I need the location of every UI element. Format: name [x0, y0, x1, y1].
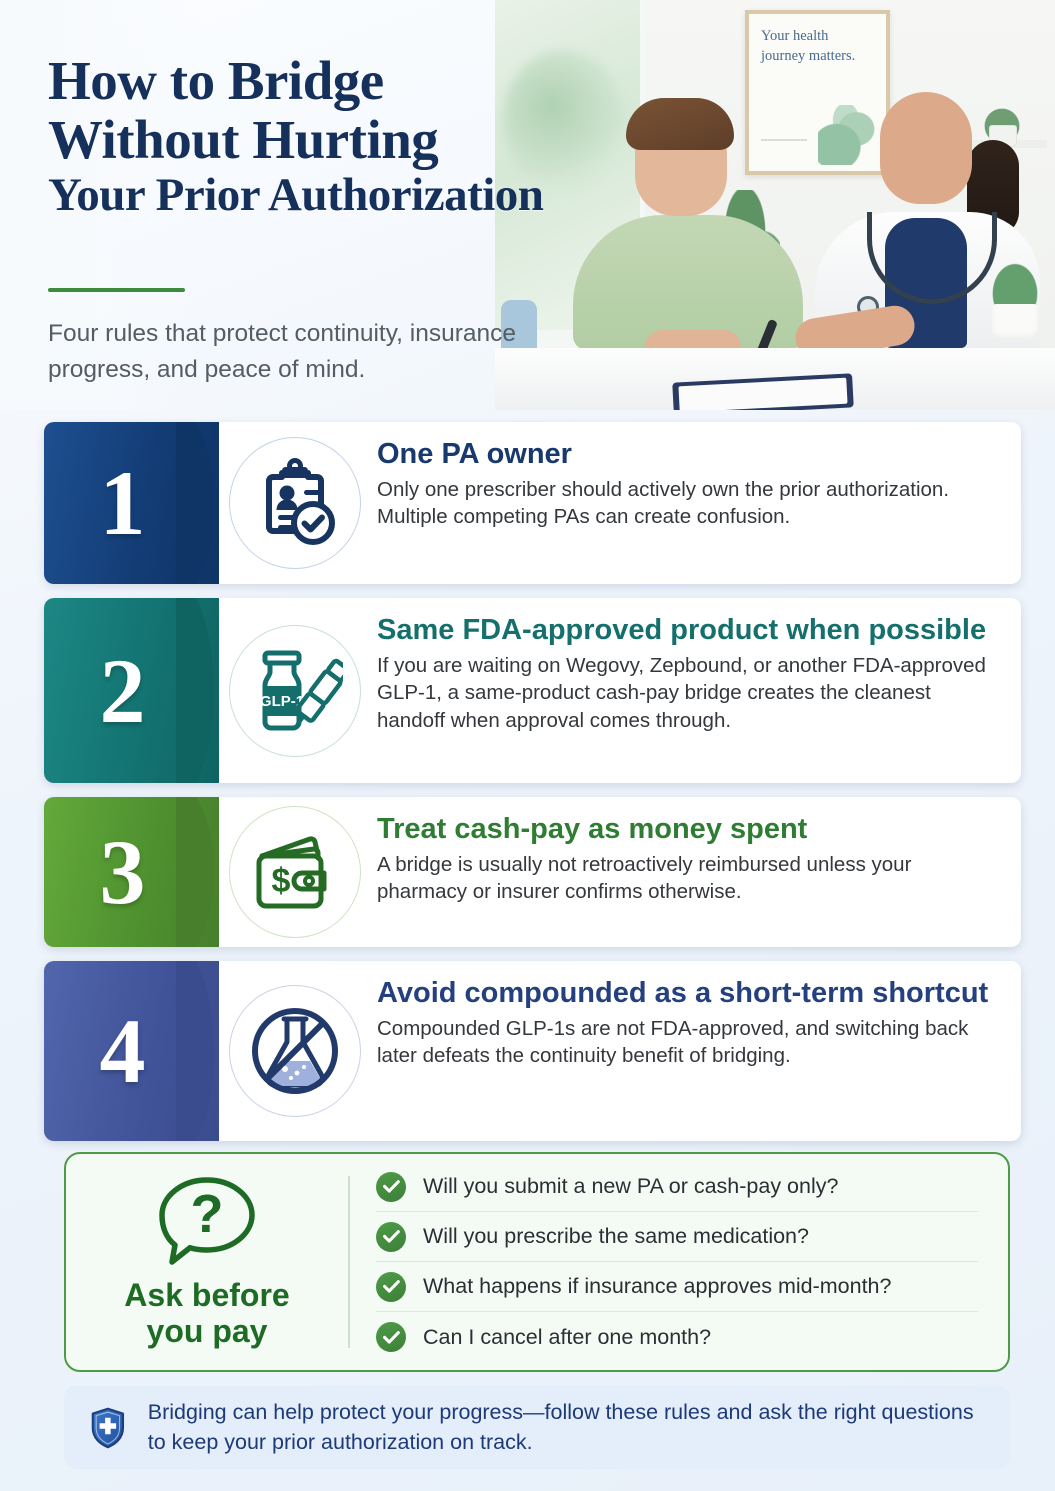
rule-icon-wrap-4 [219, 961, 371, 1141]
title-line-2: Without Hurting [48, 109, 438, 170]
check-circle-icon [376, 1322, 406, 1352]
rule-number-band-1: 1 [44, 422, 219, 584]
ask-panel-label: Ask before you pay [124, 1278, 289, 1350]
rule-number-band-3: 3 [44, 797, 219, 947]
rule-number-band-2: 2 [44, 598, 219, 783]
ask-question-text: What happens if insurance approves mid-m… [423, 1274, 891, 1299]
band-curve-shape [176, 422, 220, 584]
title-accent-rule [48, 288, 185, 292]
ask-label-line-2: you pay [147, 1313, 268, 1349]
ask-label-line-1: Ask before [124, 1277, 289, 1313]
rules-list: 1 [44, 422, 1021, 1155]
rule-title-2: Same FDA-approved product when possible [377, 614, 997, 647]
rule-icon-wrap-1 [219, 422, 371, 584]
rule-body-3: Treat cash-pay as money spent A bridge i… [371, 797, 1021, 947]
shelf-plant-icon [979, 95, 1025, 145]
rule-icon-wrap-3: $ [219, 797, 371, 947]
check-circle-icon [376, 1222, 406, 1252]
header: Your health journey matters. How to Brid… [0, 0, 1055, 410]
footer-text: Bridging can help protect your progress—… [148, 1398, 984, 1457]
rule-body-2: Same FDA-approved product when possible … [371, 598, 1021, 783]
check-circle-icon [376, 1272, 406, 1302]
poster-text: Your health journey matters. [761, 26, 869, 66]
patient-hair-front [626, 98, 734, 150]
doctor-head [880, 92, 972, 204]
page-subtitle: Four rules that protect continuity, insu… [48, 316, 568, 387]
ask-question-item: Can I cancel after one month? [376, 1312, 978, 1362]
rule-card-4[interactable]: 4 Avoid compounded as a short-term short… [44, 961, 1021, 1141]
shield-cross-icon [90, 1398, 126, 1458]
page-title: How to Bridge Without Hurting Your Prior… [48, 52, 608, 220]
rule-card-2[interactable]: 2 GLP-1 [44, 598, 1021, 783]
ask-before-you-pay-panel: ? Ask before you pay Will you submit a n… [64, 1152, 1010, 1372]
ask-question-item: What happens if insurance approves mid-m… [376, 1262, 978, 1312]
clipboard-person-check-icon [249, 457, 341, 549]
rule-icon-circle-2: GLP-1 [229, 625, 361, 757]
ask-question-text: Can I cancel after one month? [423, 1325, 711, 1350]
rule-body-1: One PA owner Only one prescriber should … [371, 422, 1021, 584]
rule-title-3: Treat cash-pay as money spent [377, 813, 997, 846]
question-mark-glyph: ? [191, 1184, 224, 1244]
band-curve-shape [176, 797, 220, 947]
poster-rule [761, 139, 807, 141]
footer-banner: Bridging can help protect your progress—… [64, 1386, 1010, 1469]
rule-icon-circle-4 [229, 985, 361, 1117]
foreground-plant-icon [980, 260, 1050, 340]
rule-desc-4: Compounded GLP-1s are not FDA-approved, … [377, 1015, 997, 1070]
rule-desc-1: Only one prescriber should actively own … [377, 476, 997, 531]
ask-panel-header: ? Ask before you pay [66, 1174, 348, 1350]
rule-body-4: Avoid compounded as a short-term shortcu… [371, 961, 1021, 1141]
rule-number-3: 3 [100, 826, 146, 918]
title-line-1: How to Bridge [48, 50, 384, 111]
question-speech-bubble-icon: ? [154, 1174, 260, 1272]
rule-card-1[interactable]: 1 [44, 422, 1021, 584]
check-circle-icon [376, 1172, 406, 1202]
title-line-3: Your Prior Authorization [48, 170, 608, 220]
no-flask-icon [247, 1003, 343, 1099]
ask-question-text: Will you prescribe the same medication? [423, 1224, 809, 1249]
ask-question-item: Will you submit a new PA or cash-pay onl… [376, 1162, 978, 1212]
leaf-illustration-icon [818, 105, 880, 165]
ask-question-item: Will you prescribe the same medication? [376, 1212, 978, 1262]
rule-desc-2: If you are waiting on Wegovy, Zepbound, … [377, 652, 997, 734]
rule-title-4: Avoid compounded as a short-term shortcu… [377, 977, 997, 1010]
rule-desc-3: A bridge is usually not retroactively re… [377, 851, 997, 906]
band-curve-shape [176, 961, 220, 1141]
wallet-dollar-icon: $ [249, 826, 341, 918]
ask-questions-list: Will you submit a new PA or cash-pay onl… [350, 1156, 1008, 1368]
rule-number-1: 1 [100, 457, 146, 549]
band-curve-shape [176, 598, 220, 783]
rule-number-band-4: 4 [44, 961, 219, 1141]
rule-number-4: 4 [100, 1005, 146, 1097]
ask-question-text: Will you submit a new PA or cash-pay onl… [423, 1174, 838, 1199]
dollar-sign-icon: $ [272, 862, 291, 900]
rule-icon-circle-1 [229, 437, 361, 569]
vial-injection-pen-icon: GLP-1 [247, 643, 343, 739]
rule-title-1: One PA owner [377, 438, 997, 471]
rule-card-3[interactable]: 3 $ Treat cash-pay as mo [44, 797, 1021, 947]
rule-icon-wrap-2: GLP-1 [219, 598, 371, 783]
wall-poster: Your health journey matters. [745, 10, 890, 175]
rule-number-2: 2 [100, 645, 146, 737]
rule-icon-circle-3: $ [229, 806, 361, 938]
